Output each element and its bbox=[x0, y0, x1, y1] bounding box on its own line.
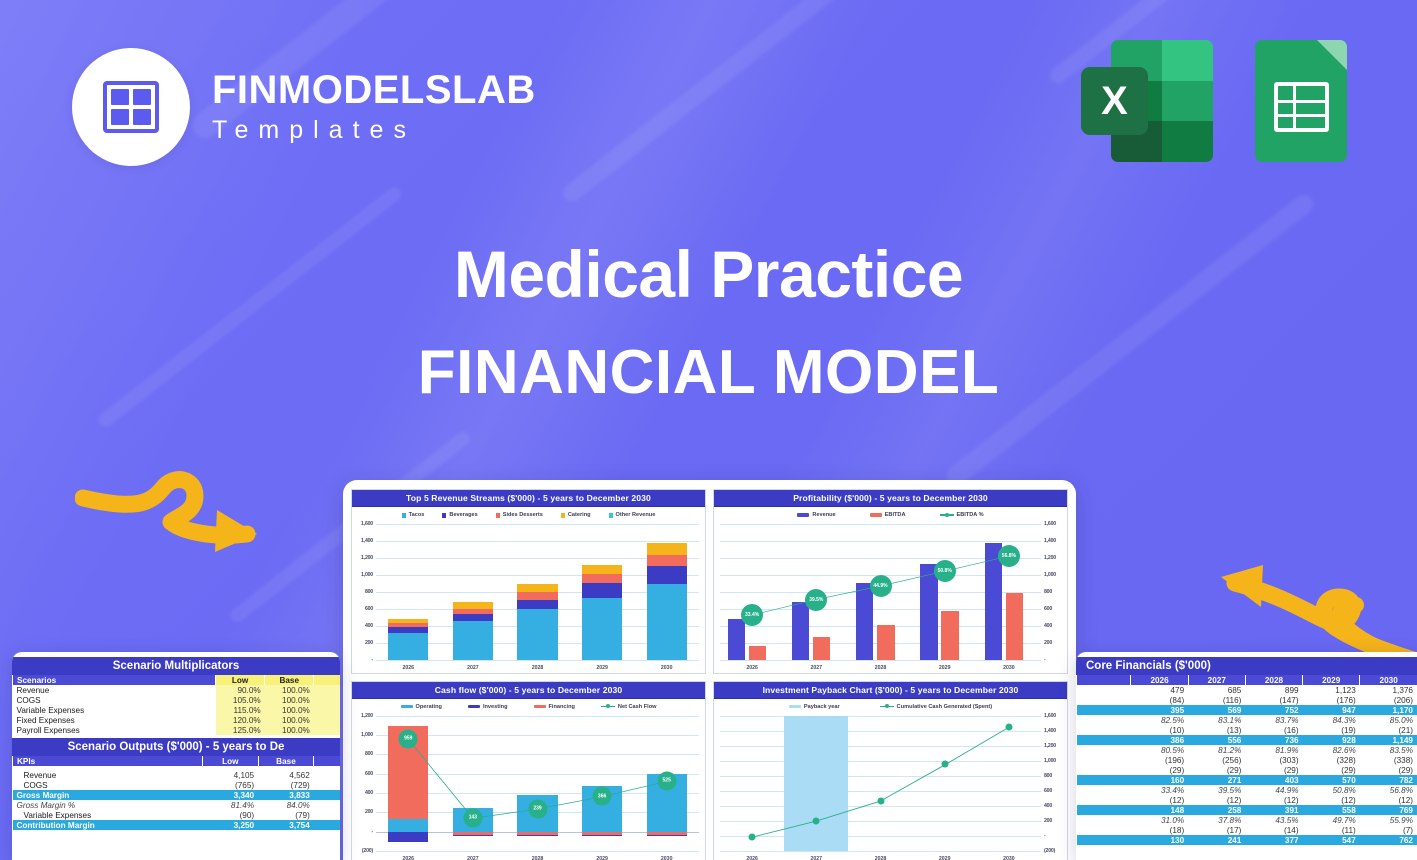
google-sheets-icon bbox=[1255, 40, 1347, 162]
cumulative-cash-marker bbox=[749, 833, 756, 840]
table-cell: 762 bbox=[1360, 835, 1417, 845]
table-row: 33.4%39.5%44.9%50.8%56.8% bbox=[1077, 785, 1417, 795]
table-cell: 4,562 bbox=[258, 770, 314, 780]
legend-label: EBITDA % bbox=[957, 512, 984, 518]
col-2030: 2030 bbox=[1360, 675, 1417, 685]
table-row: Payroll Expenses125.0%100.0% bbox=[13, 725, 341, 735]
table-cell: (338) bbox=[1360, 755, 1417, 765]
table-cell: (303) bbox=[1245, 755, 1302, 765]
table-cell: 82.6% bbox=[1303, 745, 1360, 755]
x-axis-tick: 2027 bbox=[811, 856, 823, 860]
table-row: Revenue4,1054,562 bbox=[13, 770, 341, 780]
x-axis-tick: 2030 bbox=[1003, 856, 1015, 860]
legend-label: EBITDA bbox=[885, 512, 906, 518]
table-cell: (29) bbox=[1131, 765, 1188, 775]
y-axis-tick: 1,200 bbox=[1041, 743, 1056, 749]
bar-segment bbox=[517, 600, 557, 609]
table-cell: (12) bbox=[1245, 795, 1302, 805]
net-cash-flow-bubble: 239 bbox=[528, 799, 547, 818]
table-cell: 395 bbox=[1131, 705, 1188, 715]
table-cell: 130 bbox=[1131, 835, 1188, 845]
col-low: Low bbox=[216, 675, 265, 685]
page-title: Medical Practice FINANCIAL MODEL bbox=[0, 238, 1417, 407]
table-cell: Revenue bbox=[13, 685, 216, 695]
legend-item-operating: Operating bbox=[401, 704, 442, 710]
table-cell bbox=[1077, 755, 1131, 765]
table-cell: 1,376 bbox=[1360, 685, 1417, 695]
table-cell: 782 bbox=[1360, 775, 1417, 785]
legend-investment-payback: Payback year Cumulative Cash Generated (… bbox=[714, 699, 1067, 713]
y-axis-tick: (200) bbox=[1041, 848, 1055, 854]
legend-item-ebitda-percent: EBITDA % bbox=[940, 512, 984, 518]
chart-revenue-streams[interactable]: Top 5 Revenue Streams ($'000) - 5 years … bbox=[351, 489, 706, 674]
bar-column bbox=[517, 584, 557, 660]
table-cell: 769 bbox=[1360, 805, 1417, 815]
table-cell bbox=[314, 705, 340, 715]
table-cell: (12) bbox=[1188, 795, 1245, 805]
title-line-1: Medical Practice bbox=[0, 238, 1417, 311]
cumulative-cash-marker bbox=[813, 817, 820, 824]
table-cell: 81.4% bbox=[202, 800, 258, 810]
table-row: (29)(29)(29)(29)(29) bbox=[1077, 765, 1417, 775]
y-axis-tick: 200 bbox=[1041, 818, 1052, 824]
table-cell: Gross Margin % bbox=[13, 800, 203, 810]
legend-cash-flow: Operating Investing Financing Net Cash F… bbox=[352, 699, 705, 713]
table-cell bbox=[1077, 825, 1131, 835]
logo-mark bbox=[72, 48, 190, 166]
legend-label: Catering bbox=[568, 512, 591, 518]
table-cell: Payroll Expenses bbox=[13, 725, 216, 735]
y-axis-tick: 400 bbox=[365, 623, 376, 629]
legend-item-other-revenue: Other Revenue bbox=[609, 512, 656, 518]
y-axis-tick: 1,000 bbox=[361, 732, 376, 738]
legend-item-ebitda: EBITDA bbox=[870, 512, 906, 518]
table-cell: 81.9% bbox=[1245, 745, 1302, 755]
col-low: Low bbox=[202, 756, 258, 766]
y-axis-tick: 600 bbox=[1041, 788, 1052, 794]
y-axis-tick: 200 bbox=[1041, 640, 1052, 646]
gridline bbox=[720, 660, 1041, 661]
table-cell bbox=[314, 790, 340, 800]
scenario-outputs-table[interactable]: KPIs Low Base Revenue4,1054,562COGS(765)… bbox=[12, 756, 340, 830]
legend-item-beverages: Beverages bbox=[442, 512, 477, 518]
table-cell: 115.0% bbox=[216, 705, 265, 715]
col-kpis: KPIs bbox=[13, 756, 203, 766]
col-scenarios: Scenarios bbox=[13, 675, 216, 685]
table-cell: 85.0% bbox=[1360, 715, 1417, 725]
bar-segment bbox=[582, 598, 622, 660]
table-row: (196)(256)(303)(328)(338) bbox=[1077, 755, 1417, 765]
table-cell: (84) bbox=[1131, 695, 1188, 705]
table-cell: 3,833 bbox=[258, 790, 314, 800]
table-cell: Fixed Expenses bbox=[13, 715, 216, 725]
net-cash-flow-bubble: 525 bbox=[657, 771, 676, 790]
dashboard-card: Top 5 Revenue Streams ($'000) - 5 years … bbox=[343, 480, 1076, 860]
table-row: (12)(12)(12)(12)(12) bbox=[1077, 795, 1417, 805]
col-label bbox=[1077, 675, 1131, 685]
table-cell: (196) bbox=[1131, 755, 1188, 765]
x-axis-tick: 2029 bbox=[939, 856, 951, 860]
ebitda-percent-bubble: 50.8% bbox=[934, 560, 956, 582]
table-cell: 125.0% bbox=[216, 725, 265, 735]
table-cell: (206) bbox=[1360, 695, 1417, 705]
table-cell bbox=[1077, 815, 1131, 825]
table-cell bbox=[1077, 735, 1131, 745]
table-row: 130241377547762 bbox=[1077, 835, 1417, 845]
x-axis-tick: 2026 bbox=[746, 856, 758, 860]
cumulative-cash-marker bbox=[877, 797, 884, 804]
col-2029: 2029 bbox=[1303, 675, 1360, 685]
table-cell: (17) bbox=[1188, 825, 1245, 835]
y-axis-tick: 400 bbox=[365, 790, 376, 796]
y-axis-tick: 800 bbox=[1041, 589, 1052, 595]
bar-segment bbox=[647, 555, 687, 566]
x-axis-tick: 2028 bbox=[875, 856, 887, 860]
table-row: 148258391558769 bbox=[1077, 805, 1417, 815]
legend-label: Beverages bbox=[449, 512, 477, 518]
x-axis-tick: 2027 bbox=[811, 665, 823, 671]
table-cell: Gross Margin bbox=[13, 790, 203, 800]
table-cell bbox=[1077, 785, 1131, 795]
x-axis-tick: 2027 bbox=[467, 856, 479, 860]
table-cell: (11) bbox=[1303, 825, 1360, 835]
table-row: Gross Margin %81.4%84.0% bbox=[13, 800, 341, 810]
excel-x-letter: X bbox=[1081, 67, 1148, 135]
table-cell: Revenue bbox=[13, 770, 203, 780]
table-header-row: KPIs Low Base bbox=[13, 756, 341, 766]
table-cell: 100.0% bbox=[265, 685, 314, 695]
core-financials-title: Core Financials ($'000) bbox=[1076, 657, 1417, 675]
table-cell: 479 bbox=[1131, 685, 1188, 695]
y-axis-tick: 1,400 bbox=[361, 538, 376, 544]
table-cell: 391 bbox=[1245, 805, 1302, 815]
legend-label: Net Cash Flow bbox=[618, 704, 657, 710]
x-axis-tick: 2028 bbox=[532, 665, 544, 671]
table-cell: 271 bbox=[1188, 775, 1245, 785]
bar-segment bbox=[453, 621, 493, 660]
table-cell: 752 bbox=[1245, 705, 1302, 715]
table-cell: 558 bbox=[1303, 805, 1360, 815]
table-row: Fixed Expenses120.0%100.0% bbox=[13, 715, 341, 725]
y-axis-tick: 600 bbox=[365, 606, 376, 612]
table-row: 3955697529471,170 bbox=[1077, 705, 1417, 715]
table-cell: 160 bbox=[1131, 775, 1188, 785]
chart-title-profitability: Profitability ($'000) - 5 years to Decem… bbox=[714, 490, 1067, 507]
legend-item-investing: Investing bbox=[468, 704, 508, 710]
table-row: 31.0%37.8%43.5%49.7%55.9% bbox=[1077, 815, 1417, 825]
table-row: Revenue90.0%100.0% bbox=[13, 685, 341, 695]
table-cell bbox=[1077, 835, 1131, 845]
col-2028: 2028 bbox=[1245, 675, 1302, 685]
y-axis-tick: 800 bbox=[1041, 773, 1052, 779]
table-cell: 50.8% bbox=[1303, 785, 1360, 795]
table-cell: 1,149 bbox=[1360, 735, 1417, 745]
table-cell: 33.4% bbox=[1131, 785, 1188, 795]
col-base: Base bbox=[265, 675, 314, 685]
table-cell: 56.8% bbox=[1360, 785, 1417, 795]
table-cell: COGS bbox=[13, 780, 203, 790]
table-cell: (7) bbox=[1360, 825, 1417, 835]
table-cell bbox=[314, 695, 340, 705]
bar-segment bbox=[517, 592, 557, 600]
bar-segment bbox=[517, 584, 557, 592]
legend-revenue-streams: Tacos Beverages Sides Desserts Catering … bbox=[352, 507, 705, 521]
table-cell: 3,754 bbox=[258, 820, 314, 830]
table-row: (84)(116)(147)(176)(206) bbox=[1077, 695, 1417, 705]
table-cell: (79) bbox=[258, 810, 314, 820]
table-cell: (256) bbox=[1188, 755, 1245, 765]
ebitda-percent-bubble: 33.4% bbox=[741, 604, 763, 626]
brand-tagline: Templates bbox=[212, 116, 536, 145]
scenario-multiplicators-table[interactable]: Scenarios Low Base Revenue90.0%100.0%COG… bbox=[12, 675, 340, 735]
table-cell: (90) bbox=[202, 810, 258, 820]
legend-item-tacos: Tacos bbox=[402, 512, 425, 518]
table-cell: Variable Expenses bbox=[13, 705, 216, 715]
table-row: Variable Expenses115.0%100.0% bbox=[13, 705, 341, 715]
plot-area-profitability: -2004006008001,0001,2001,4001,6002026202… bbox=[714, 521, 1067, 673]
table-cell: (19) bbox=[1303, 725, 1360, 735]
x-axis-tick: 2030 bbox=[1003, 665, 1015, 671]
table-cell bbox=[314, 800, 340, 810]
bar-segment bbox=[582, 565, 622, 574]
x-axis-tick: 2027 bbox=[467, 665, 479, 671]
table-cell: (147) bbox=[1245, 695, 1302, 705]
net-cash-flow-line bbox=[376, 716, 699, 852]
bar-segment bbox=[517, 609, 557, 659]
table-cell bbox=[1077, 705, 1131, 715]
table-cell: 928 bbox=[1303, 735, 1360, 745]
table-cell: 90.0% bbox=[216, 685, 265, 695]
cumulative-cash-line bbox=[720, 716, 1041, 852]
col-2026: 2026 bbox=[1131, 675, 1188, 685]
table-cell: 736 bbox=[1245, 735, 1302, 745]
table-cell bbox=[1077, 765, 1131, 775]
table-cell: (13) bbox=[1188, 725, 1245, 735]
x-axis-tick: 2026 bbox=[746, 665, 758, 671]
table-cell: 3,250 bbox=[202, 820, 258, 830]
net-cash-flow-bubble: 959 bbox=[399, 729, 418, 748]
brand-logo: FINMODELSLAB Templates bbox=[72, 48, 536, 166]
legend-item-catering: Catering bbox=[561, 512, 591, 518]
x-axis-tick: 2030 bbox=[661, 665, 673, 671]
x-axis-tick: 2029 bbox=[596, 665, 608, 671]
table-cell: COGS bbox=[13, 695, 216, 705]
legend-item-net-cash-flow: Net Cash Flow bbox=[601, 704, 657, 710]
table-cell: 899 bbox=[1245, 685, 1302, 695]
table-cell: 547 bbox=[1303, 835, 1360, 845]
table-cell: 377 bbox=[1245, 835, 1302, 845]
gridline bbox=[376, 660, 699, 661]
table-cell: 569 bbox=[1188, 705, 1245, 715]
gridline bbox=[376, 851, 699, 852]
y-axis-tick: 1,400 bbox=[1041, 538, 1056, 544]
y-axis-tick: 1,200 bbox=[361, 713, 376, 719]
chart-cash-flow[interactable]: Cash flow ($'000) - 5 years to December … bbox=[351, 681, 706, 860]
col-base: Base bbox=[258, 756, 314, 766]
col-2027: 2027 bbox=[1188, 675, 1245, 685]
microsoft-excel-icon: X bbox=[1081, 40, 1213, 162]
col-blank bbox=[314, 756, 340, 766]
table-cell: 100.0% bbox=[265, 725, 314, 735]
y-axis-tick: 200 bbox=[365, 640, 376, 646]
app-icons: X bbox=[1081, 40, 1347, 162]
table-cell bbox=[1077, 795, 1131, 805]
table-cell bbox=[1077, 715, 1131, 725]
table-cell: (29) bbox=[1303, 765, 1360, 775]
table-cell bbox=[314, 715, 340, 725]
y-axis-tick: 200 bbox=[365, 809, 376, 815]
table-cell: (18) bbox=[1131, 825, 1188, 835]
y-axis-tick: 600 bbox=[365, 771, 376, 777]
table-cell: (12) bbox=[1360, 795, 1417, 805]
table-cell bbox=[314, 770, 340, 780]
bar-segment bbox=[582, 574, 622, 583]
table-cell: (12) bbox=[1131, 795, 1188, 805]
table-cell bbox=[314, 780, 340, 790]
legend-item-sides-desserts: Sides Desserts bbox=[496, 512, 543, 518]
table-cell: 100.0% bbox=[265, 695, 314, 705]
table-cell: (729) bbox=[258, 780, 314, 790]
y-axis-tick: 1,200 bbox=[1041, 555, 1056, 561]
table-cell bbox=[314, 725, 340, 735]
table-header-row: Scenarios Low Base bbox=[13, 675, 341, 685]
table-cell: (12) bbox=[1303, 795, 1360, 805]
table-cell: 241 bbox=[1188, 835, 1245, 845]
legend-label: Financing bbox=[549, 704, 575, 710]
table-cell: 83.5% bbox=[1360, 745, 1417, 755]
table-cell: 39.5% bbox=[1188, 785, 1245, 795]
ebitda-percent-bubble: 56.8% bbox=[998, 545, 1020, 567]
table-cell: 947 bbox=[1303, 705, 1360, 715]
table-cell: 100.0% bbox=[265, 705, 314, 715]
cumulative-cash-marker bbox=[1005, 723, 1012, 730]
background-streak bbox=[559, 0, 901, 205]
table-cell bbox=[1077, 695, 1131, 705]
table-cell bbox=[1077, 685, 1131, 695]
arrow-left-decoration bbox=[75, 460, 295, 570]
legend-label: Investing bbox=[483, 704, 508, 710]
table-cell: 556 bbox=[1188, 735, 1245, 745]
x-axis-tick: 2026 bbox=[403, 856, 415, 860]
chart-title-cash-flow: Cash flow ($'000) - 5 years to December … bbox=[352, 682, 705, 699]
ebitda-percent-bubble: 44.9% bbox=[870, 575, 892, 597]
x-axis-tick: 2028 bbox=[875, 665, 887, 671]
net-cash-flow-bubble: 366 bbox=[593, 787, 612, 806]
core-financials-card: Core Financials ($'000) 2026202720282029… bbox=[1076, 652, 1417, 860]
y-axis-tick: 1,600 bbox=[1041, 713, 1056, 719]
table-cell: 258 bbox=[1188, 805, 1245, 815]
legend-label: Revenue bbox=[812, 512, 835, 518]
table-cell bbox=[1077, 805, 1131, 815]
table-row: 160271403570782 bbox=[1077, 775, 1417, 785]
table-cell: 685 bbox=[1188, 685, 1245, 695]
table-cell: (21) bbox=[1360, 725, 1417, 735]
table-row: 3865567369281,149 bbox=[1077, 735, 1417, 745]
table-cell: (765) bbox=[202, 780, 258, 790]
y-axis-tick: 400 bbox=[1041, 623, 1052, 629]
y-axis-tick: 1,600 bbox=[361, 521, 376, 527]
y-axis-tick: 400 bbox=[1041, 803, 1052, 809]
y-axis-tick: (200) bbox=[362, 848, 376, 854]
table-header-row: 20262027202820292030 bbox=[1077, 675, 1417, 685]
table-row: 4796858991,1231,376 bbox=[1077, 685, 1417, 695]
x-axis-tick: 2030 bbox=[661, 856, 673, 860]
table-row: (18)(17)(14)(11)(7) bbox=[1077, 825, 1417, 835]
chart-profitability[interactable]: Profitability ($'000) - 5 years to Decem… bbox=[713, 489, 1068, 674]
brand-name: FINMODELSLAB bbox=[212, 70, 536, 110]
table-cell: 120.0% bbox=[216, 715, 265, 725]
table-cell: 49.7% bbox=[1303, 815, 1360, 825]
table-cell: 55.9% bbox=[1360, 815, 1417, 825]
table-cell: (10) bbox=[1131, 725, 1188, 735]
gridline bbox=[376, 524, 699, 525]
x-axis-tick: 2029 bbox=[939, 665, 951, 671]
table-row: (10)(13)(16)(19)(21) bbox=[1077, 725, 1417, 735]
grid-squares-icon bbox=[103, 81, 159, 133]
legend-item-financing: Financing bbox=[534, 704, 575, 710]
table-cell: (16) bbox=[1245, 725, 1302, 735]
bar-column bbox=[582, 565, 622, 660]
gridline bbox=[376, 541, 699, 542]
plot-area-cash-flow: (200)-2004006008001,0001,200202620272028… bbox=[352, 713, 705, 860]
legend-profitability: Revenue EBITDA EBITDA % bbox=[714, 507, 1067, 521]
y-axis-tick: 1,000 bbox=[1041, 758, 1056, 764]
table-cell: 43.5% bbox=[1245, 815, 1302, 825]
bar-segment bbox=[647, 584, 687, 660]
scenario-multiplicators-title: Scenario Multiplicators bbox=[12, 657, 340, 675]
table-cell: 105.0% bbox=[216, 695, 265, 705]
table-cell: 44.9% bbox=[1245, 785, 1302, 795]
table-cell: 37.8% bbox=[1188, 815, 1245, 825]
table-cell: 403 bbox=[1245, 775, 1302, 785]
table-cell: 81.2% bbox=[1188, 745, 1245, 755]
bar-segment bbox=[647, 566, 687, 583]
table-cell: (29) bbox=[1360, 765, 1417, 775]
table-cell: (29) bbox=[1188, 765, 1245, 775]
y-axis-tick: - bbox=[1041, 833, 1046, 839]
plot-area-investment-payback: (200)-2004006008001,0001,2001,4001,60020… bbox=[714, 713, 1067, 860]
table-cell: Contribution Margin bbox=[13, 820, 203, 830]
table-cell bbox=[1077, 775, 1131, 785]
y-axis-tick: 1,400 bbox=[1041, 728, 1056, 734]
y-axis-tick: - bbox=[371, 657, 376, 663]
y-axis-tick: 1,200 bbox=[361, 555, 376, 561]
chart-investment-payback[interactable]: Investment Payback Chart ($'000) - 5 yea… bbox=[713, 681, 1068, 860]
y-axis-tick: 800 bbox=[365, 751, 376, 757]
table-row: 80.5%81.2%81.9%82.6%83.5% bbox=[1077, 745, 1417, 755]
core-financials-table[interactable]: 20262027202820292030 4796858991,1231,376… bbox=[1076, 675, 1417, 845]
table-cell: 100.0% bbox=[265, 715, 314, 725]
legend-item-payback-year: Payback year bbox=[789, 704, 840, 710]
scenario-outputs-title: Scenario Outputs ($'000) - 5 years to De bbox=[12, 738, 340, 756]
legend-label: Payback year bbox=[804, 704, 840, 710]
table-cell: (176) bbox=[1303, 695, 1360, 705]
table-row: COGS105.0%100.0% bbox=[13, 695, 341, 705]
table-cell: 82.5% bbox=[1131, 715, 1188, 725]
table-cell bbox=[314, 820, 340, 830]
table-cell: 1,170 bbox=[1360, 705, 1417, 715]
col-blank bbox=[314, 675, 340, 685]
table-cell: 83.7% bbox=[1245, 715, 1302, 725]
table-cell: 31.0% bbox=[1131, 815, 1188, 825]
table-cell: 1,123 bbox=[1303, 685, 1360, 695]
x-axis-tick: 2029 bbox=[596, 856, 608, 860]
legend-label: Cumulative Cash Generated (Spent) bbox=[897, 704, 992, 710]
table-cell: 148 bbox=[1131, 805, 1188, 815]
table-cell: 83.1% bbox=[1188, 715, 1245, 725]
table-cell bbox=[1077, 725, 1131, 735]
table-cell: 84.0% bbox=[258, 800, 314, 810]
